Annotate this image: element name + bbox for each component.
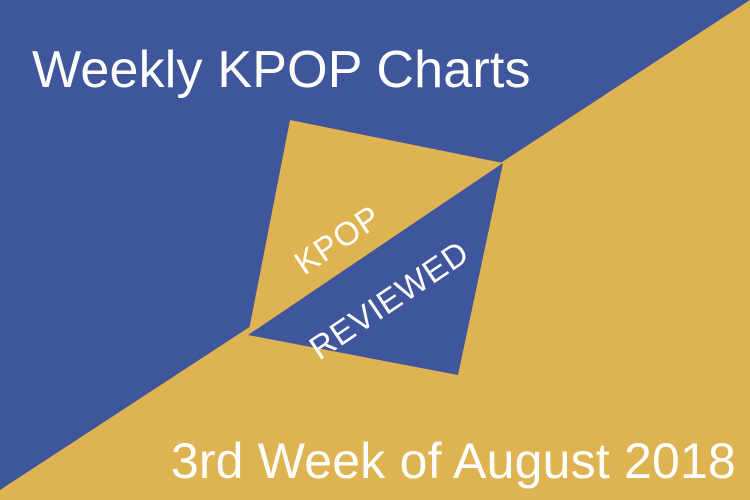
kpop-charts-banner: Weekly KPOP Charts KPOP REVIEWED 3rd Wee…	[0, 0, 750, 500]
page-title-top: Weekly KPOP Charts	[32, 44, 531, 96]
page-title-bottom: 3rd Week of August 2018	[171, 436, 736, 486]
